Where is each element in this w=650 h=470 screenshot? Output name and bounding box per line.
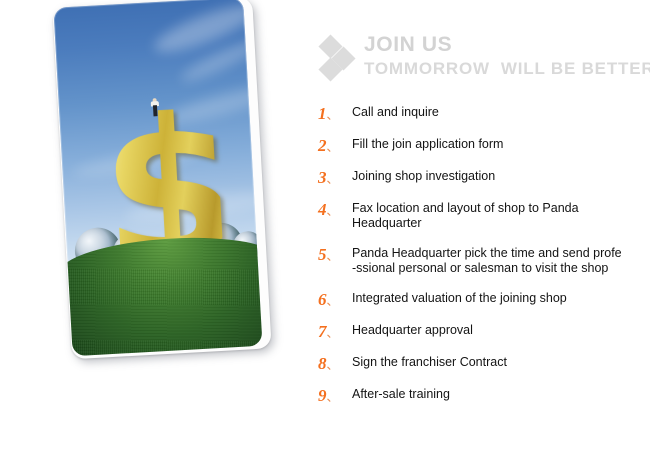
- step-text: Joining shop investigation: [352, 168, 650, 184]
- step-text: Panda Headquarter pick the time and send…: [352, 245, 650, 276]
- list-item: 6、 Integrated valuation of the joining s…: [318, 290, 650, 310]
- page-subtitle: TOMMORROW WILL BE BETTER !: [364, 58, 650, 80]
- step-number: 7、: [318, 322, 352, 342]
- join-us-page: { "photo": { "alt_name": "dollar-sign-ph…: [0, 0, 650, 470]
- diamond-cluster-icon: [318, 32, 364, 80]
- step-text: Fax location and layout of shop to Panda…: [352, 200, 650, 231]
- step-text: Fill the join application form: [352, 136, 650, 152]
- step-number: 9、: [318, 386, 352, 406]
- list-item: 7、 Headquarter approval: [318, 322, 650, 342]
- list-item: 5、 Panda Headquarter pick the time and s…: [318, 245, 650, 276]
- step-text: Call and inquire: [352, 104, 650, 120]
- step-number: 1、: [318, 104, 352, 124]
- person-figure-icon: [151, 98, 160, 116]
- step-number: 3、: [318, 168, 352, 188]
- step-text: After-sale training: [352, 386, 650, 402]
- step-number: 5、: [318, 245, 352, 265]
- list-item: 2、 Fill the join application form: [318, 136, 650, 156]
- list-item: 9、 After-sale training: [318, 386, 650, 406]
- step-number: 8、: [318, 354, 352, 374]
- step-number: 4、: [318, 200, 352, 220]
- steps-list: 1、 Call and inquire 2、 Fill the join app…: [318, 104, 650, 418]
- photo-card: $: [52, 0, 271, 359]
- list-item: 4、 Fax location and layout of shop to Pa…: [318, 200, 650, 231]
- step-number: 2、: [318, 136, 352, 156]
- step-number: 6、: [318, 290, 352, 310]
- step-text: Sign the franchiser Contract: [352, 354, 650, 370]
- page-title: JOIN US: [364, 34, 650, 56]
- content-panel: JOIN US TOMMORROW WILL BE BETTER ! 1、 Ca…: [318, 0, 650, 470]
- section-header: JOIN US TOMMORROW WILL BE BETTER !: [318, 30, 650, 86]
- list-item: 3、 Joining shop investigation: [318, 168, 650, 188]
- header-titles: JOIN US TOMMORROW WILL BE BETTER !: [364, 30, 650, 80]
- list-item: 1、 Call and inquire: [318, 104, 650, 124]
- list-item: 8、 Sign the franchiser Contract: [318, 354, 650, 374]
- step-text: Integrated valuation of the joining shop: [352, 290, 650, 306]
- photo-panel: $: [0, 0, 310, 470]
- dollar-sign-photo: $: [53, 0, 262, 356]
- step-text: Headquarter approval: [352, 322, 650, 338]
